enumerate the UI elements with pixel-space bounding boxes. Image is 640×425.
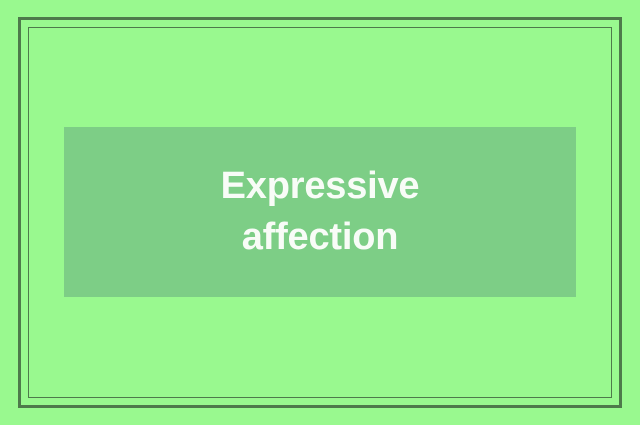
title-line-1: Expressive — [64, 161, 576, 212]
title-line-2: affection — [64, 212, 576, 263]
title-panel: Expressive affection — [64, 127, 576, 297]
slide-canvas: Expressive affection — [0, 0, 640, 425]
